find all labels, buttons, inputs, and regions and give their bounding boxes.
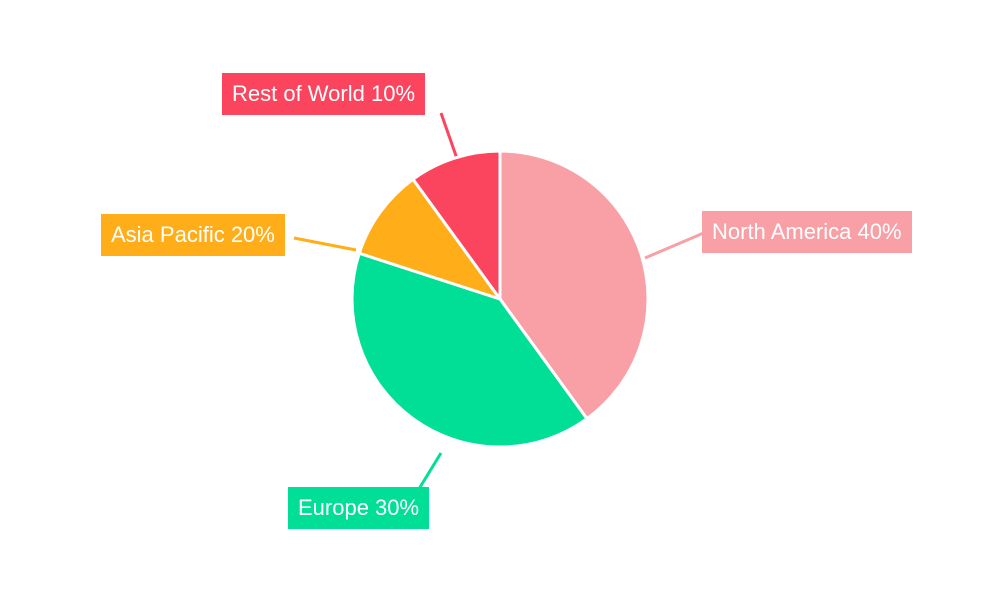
pie-label-rest-of-world[interactable]: Rest of World 10% [222, 73, 425, 115]
leader-line-north-america [645, 232, 706, 258]
pie-label-europe[interactable]: Europe 30% [288, 487, 429, 529]
pie-label-asia-pacific[interactable]: Asia Pacific 20% [101, 214, 285, 256]
pie-chart-figure [0, 0, 1000, 600]
pie-label-north-america[interactable]: North America 40% [702, 211, 912, 253]
leader-line-asia-pacific [294, 238, 356, 250]
pie-chart-canvas: North America 40% Europe 30% Asia Pacifi… [0, 0, 1000, 600]
